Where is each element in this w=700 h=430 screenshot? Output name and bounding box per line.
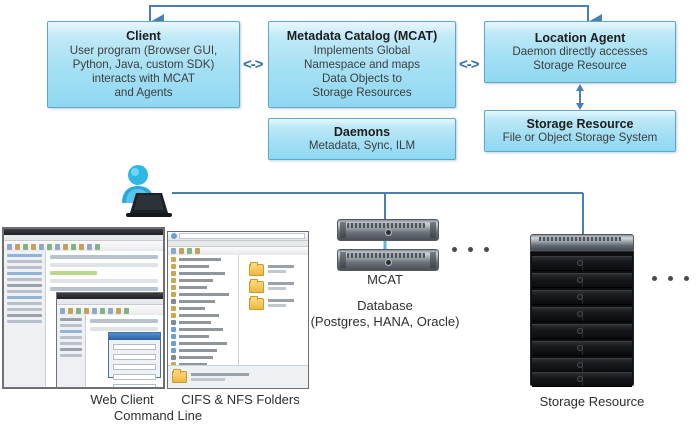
box-daemons[interactable]: Daemons Metadata, Sync, ILM (268, 118, 456, 160)
caption-mcat-node: MCAT (330, 272, 440, 288)
box-mcat-body: Implements Global Namespace and maps Dat… (304, 44, 420, 100)
dialog-window[interactable] (108, 332, 161, 377)
box-daemons-title: Daemons (334, 125, 390, 140)
box-location-agent[interactable]: Location Agent Daemon directly accesses … (484, 21, 676, 83)
box-location-agent-body: Daemon directly accesses Storage Resourc… (512, 45, 647, 73)
box-storage-resource-body: File or Object Storage System (503, 131, 658, 145)
box-client-title: Client (126, 29, 161, 44)
box-client-body: User program (Browser GUI, Python, Java,… (70, 44, 218, 100)
storage-ellipsis (652, 276, 689, 281)
connector-mcat-agent-icon: <-> (459, 56, 479, 73)
box-client[interactable]: Client User program (Browser GUI, Python… (47, 21, 240, 108)
mcat-server-2 (337, 249, 439, 271)
box-storage-resource[interactable]: Storage Resource File or Object Storage … (484, 110, 676, 152)
mcat-ellipsis (452, 247, 489, 252)
caption-cifs-nfs-folders: CIFS & NFS Folders (168, 392, 313, 408)
caption-database: Database (Postgres, HANA, Oracle) (295, 298, 475, 331)
box-mcat-title: Metadata Catalog (MCAT) (287, 29, 437, 44)
rack-drive-stack (530, 251, 634, 386)
box-mcat[interactable]: Metadata Catalog (MCAT) Implements Globa… (268, 21, 456, 108)
user-laptop-icon (112, 163, 174, 223)
diagram-canvas: Client User program (Browser GUI, Python… (0, 0, 700, 430)
storage-rack (530, 234, 634, 386)
box-storage-resource-title: Storage Resource (527, 117, 634, 132)
connector-client-mcat-icon: <-> (243, 56, 263, 73)
web-client-screenshot[interactable] (2, 227, 165, 389)
caption-storage-resource: Storage Resource (512, 394, 672, 410)
file-explorer-screenshot[interactable] (167, 231, 309, 389)
box-location-agent-title: Location Agent (535, 31, 626, 46)
box-daemons-body: Metadata, Sync, ILM (309, 139, 415, 153)
caption-command-line: Command Line (88, 408, 228, 424)
rack-head-server (530, 234, 634, 251)
mcat-server-1 (337, 219, 439, 241)
